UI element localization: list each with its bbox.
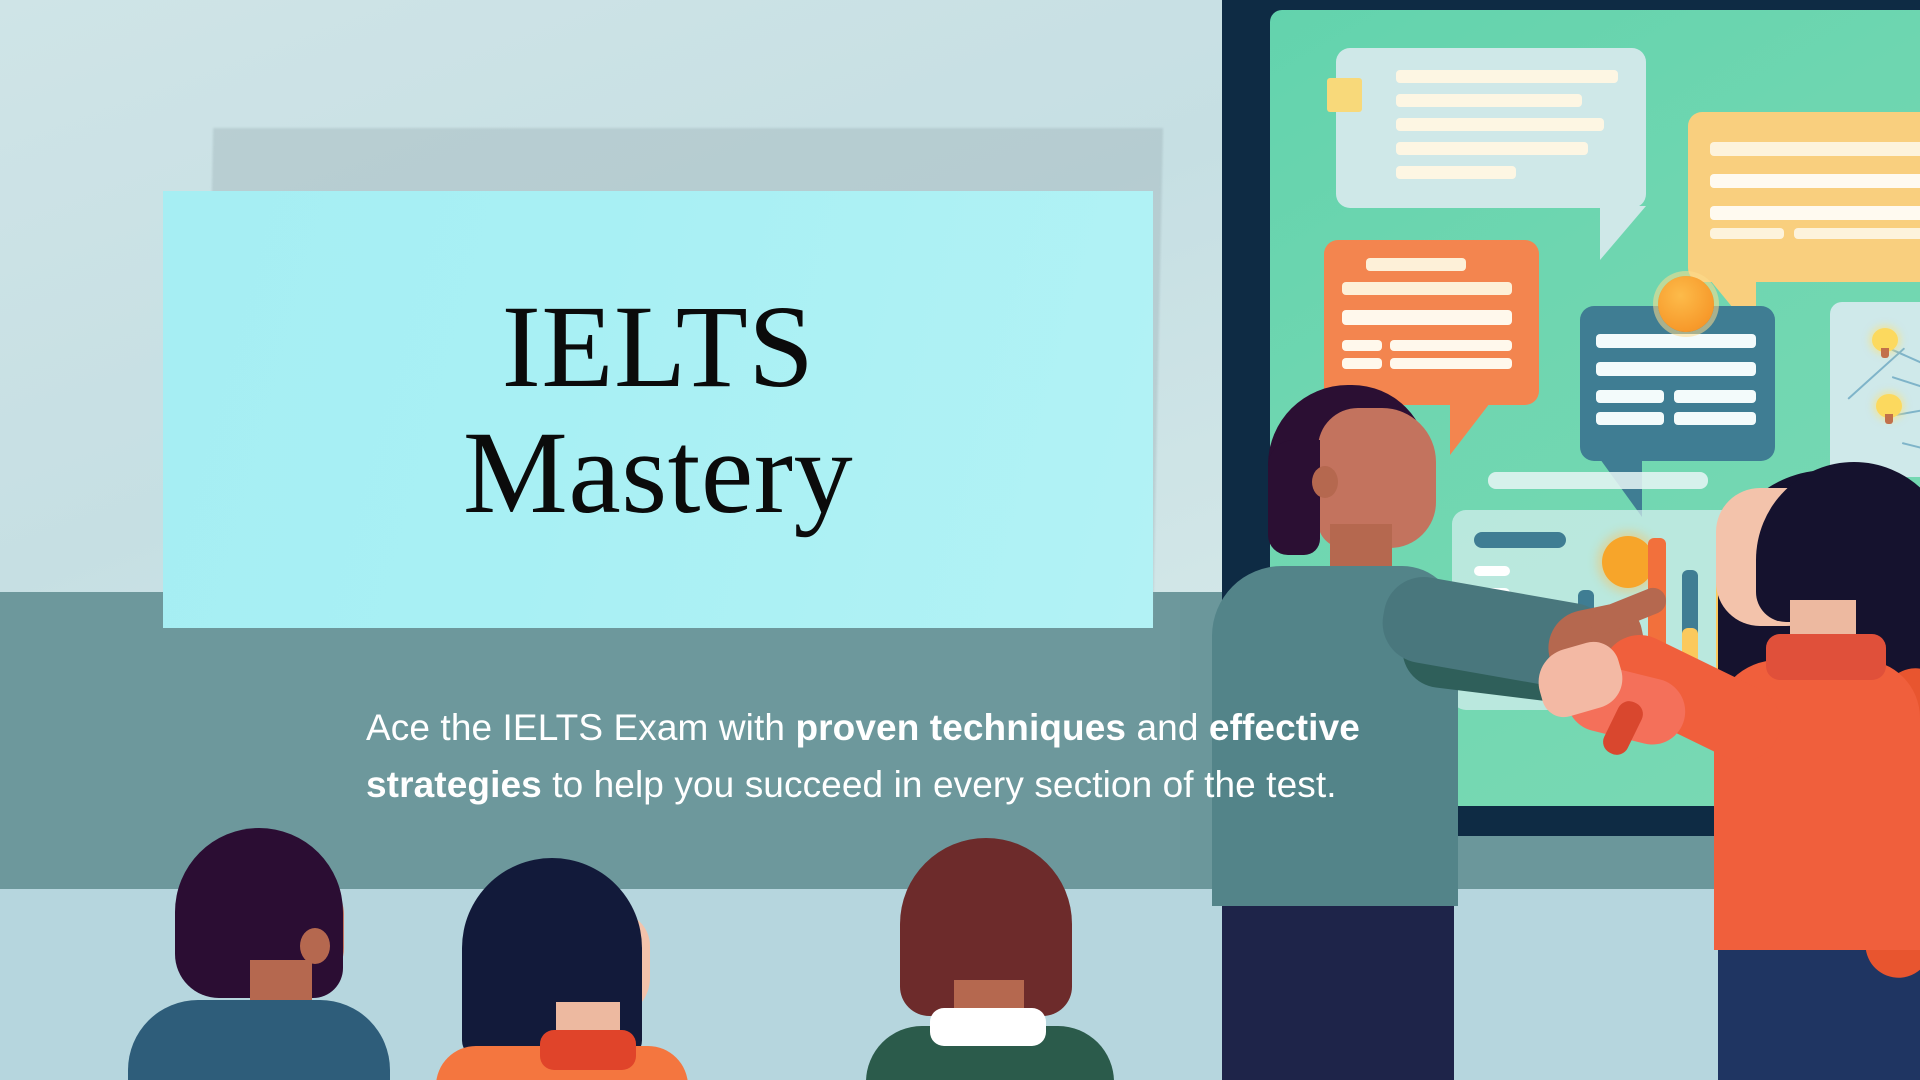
bubble-text-line [1396,142,1588,155]
bubble-text-line [1710,206,1920,220]
bubble-text-line [1342,282,1512,295]
bubble-text-line [1710,142,1920,156]
bubble-text-line [1396,94,1582,107]
speech-bubble-tail [1600,206,1646,260]
bubble-text-line [1710,174,1920,188]
board-title-strip [1488,472,1708,489]
dashboard-title-bar [1474,532,1566,548]
slide-subtitle: Ace the IELTS Exam with proven technique… [366,700,1446,813]
bubble-text-line [1674,412,1756,425]
speech-bubble-tail [1450,403,1490,455]
subtitle-segment-2: proven techniques [795,707,1126,748]
dashboard-row [1474,566,1510,576]
bubble-text-line [1396,70,1618,83]
presenter-male-trousers [1222,880,1454,1080]
student-left-ear [300,928,330,964]
bubble-text-line [1596,334,1756,348]
sun-icon [1602,536,1654,588]
page-title: IELTS Mastery [163,284,1153,534]
bubble-text-line [1794,228,1920,239]
speech-bubble-orange [1324,240,1539,405]
bubble-text-line [1396,118,1604,131]
subtitle-segment-1: Ace the IELTS Exam with [366,707,795,748]
student-center-collar [540,1030,636,1070]
title-line-1: IELTS [203,284,1113,409]
bubble-text-line [1596,362,1756,376]
student-right-collar [930,1008,1046,1046]
bubble-text-line [1342,340,1382,351]
bubble-tab-icon [1327,78,1362,112]
bubble-text-line [1342,358,1382,369]
bubble-text-line [1366,258,1466,271]
bubble-text-line [1596,412,1664,425]
bubble-text-line [1596,390,1664,403]
network-link [1902,442,1920,458]
student-left-sweater [128,1000,390,1080]
title-card: IELTS Mastery [163,191,1153,628]
title-line-2: Mastery [203,410,1113,535]
bubble-text-line [1390,340,1512,351]
bubble-text-line [1396,166,1516,179]
lightbulb-icon [1872,328,1898,358]
lightbulb-icon [1876,394,1902,424]
presenter-male-ear [1312,466,1338,498]
bubble-text-line [1710,228,1784,239]
subtitle-segment-5: to help you succeed in every section of … [542,764,1337,805]
speech-bubble-pale-blue [1336,48,1646,208]
presentation-slide: IELTS Mastery Ace the IELTS Exam with [0,0,1920,1080]
lightbulb-network-card [1830,302,1920,477]
presenter-male-hair-side [1268,440,1320,555]
bubble-text-line [1674,390,1756,403]
bubble-text-line [1342,310,1512,325]
speech-bubble-yellow [1688,112,1920,282]
bubble-text-line [1390,358,1512,369]
subtitle-segment-3: and [1126,707,1209,748]
presenter-female-collar [1766,634,1886,680]
globe-icon [1658,276,1714,332]
